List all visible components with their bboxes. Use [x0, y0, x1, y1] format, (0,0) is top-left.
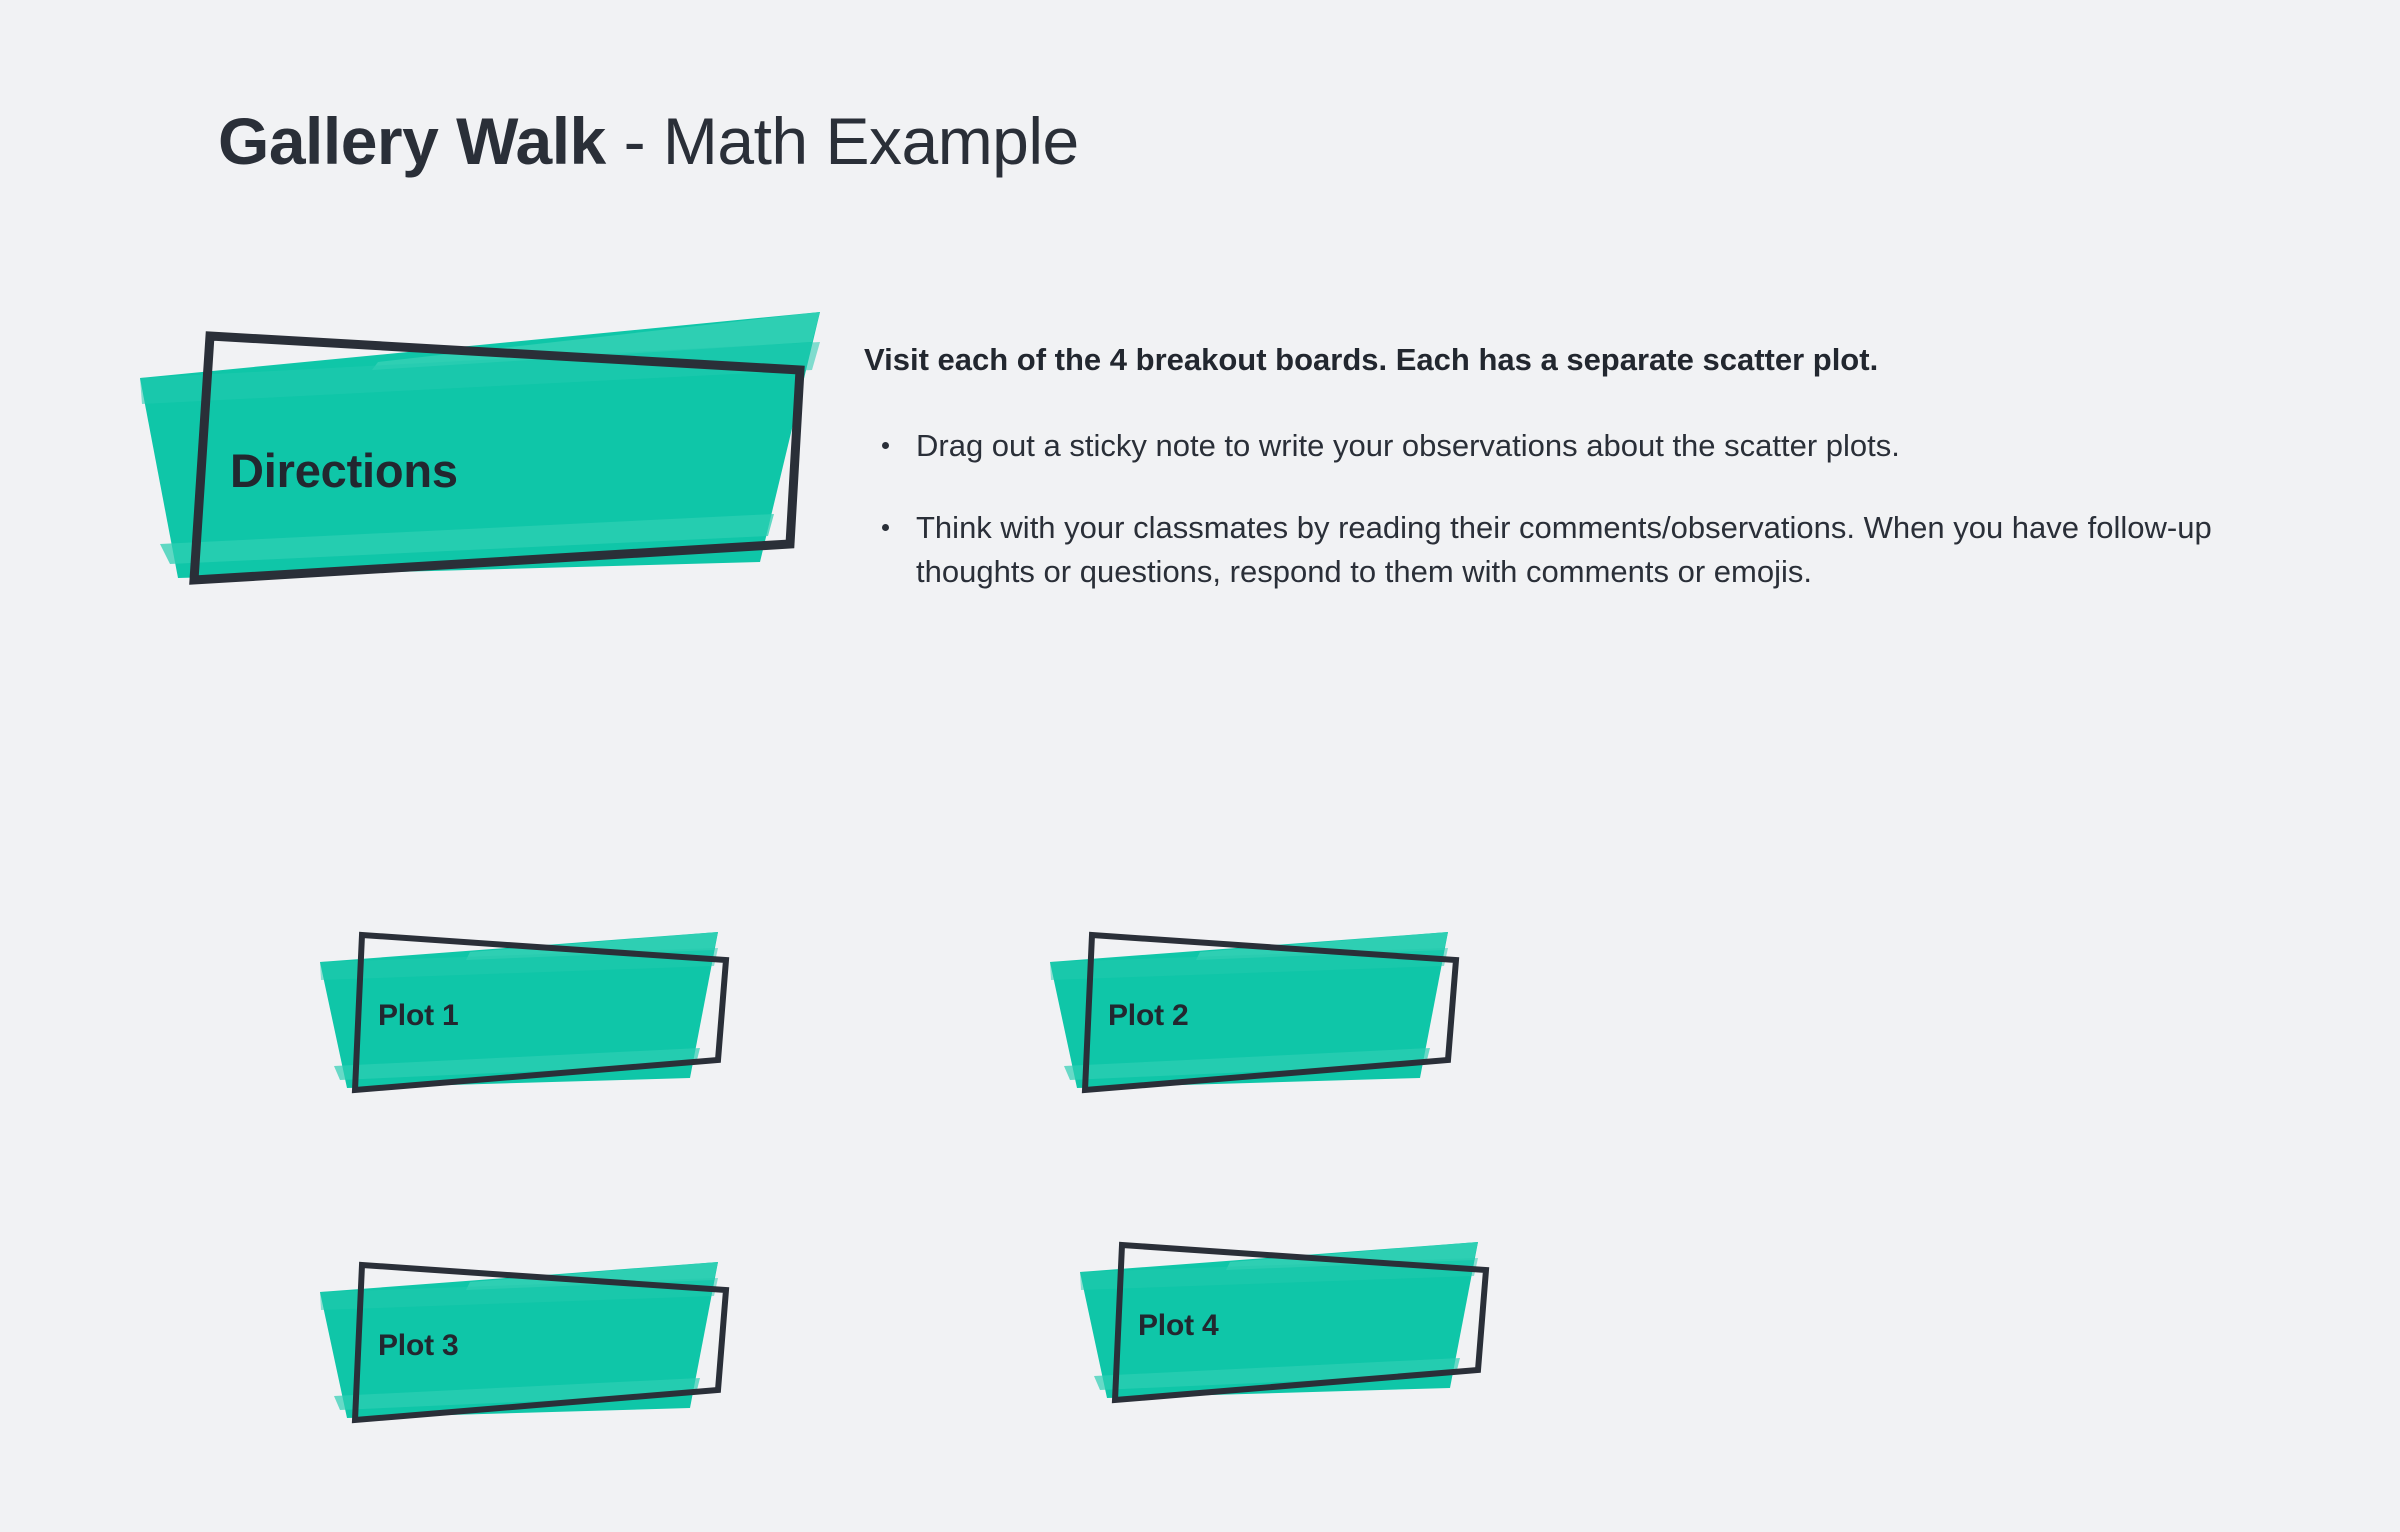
bullet-dot-icon — [882, 442, 889, 449]
plot-banner-shape — [320, 920, 760, 1110]
directions-bullet-text: Think with your classmates by reading th… — [916, 510, 2212, 589]
plot-banner-3[interactable]: Plot 3 — [320, 1250, 760, 1440]
directions-bullet-text: Drag out a sticky note to write your obs… — [916, 428, 1900, 463]
page-title-regular: - Math Example — [606, 104, 1079, 178]
directions-banner[interactable]: Directions — [140, 312, 820, 612]
bullet-dot-icon — [882, 524, 889, 531]
directions-bullet-list: Drag out a sticky note to write your obs… — [864, 424, 2304, 594]
plot-banner-shape — [1080, 1230, 1520, 1420]
plot-banner-shape — [1050, 920, 1490, 1110]
plot-banner-1[interactable]: Plot 1 — [320, 920, 760, 1110]
directions-bullet-item: Think with your classmates by reading th… — [864, 506, 2304, 594]
plot-banner-4[interactable]: Plot 4 — [1080, 1230, 1520, 1420]
page-title-bold: Gallery Walk — [218, 104, 606, 178]
directions-heading: Visit each of the 4 breakout boards. Eac… — [864, 340, 2304, 380]
page-title: Gallery Walk - Math Example — [218, 104, 1079, 180]
directions-banner-shape — [140, 312, 820, 612]
plot-banner-shape — [320, 1250, 760, 1440]
directions-text-block: Visit each of the 4 breakout boards. Eac… — [864, 340, 2304, 594]
directions-bullet-item: Drag out a sticky note to write your obs… — [864, 424, 2304, 468]
plot-banner-2[interactable]: Plot 2 — [1050, 920, 1490, 1110]
